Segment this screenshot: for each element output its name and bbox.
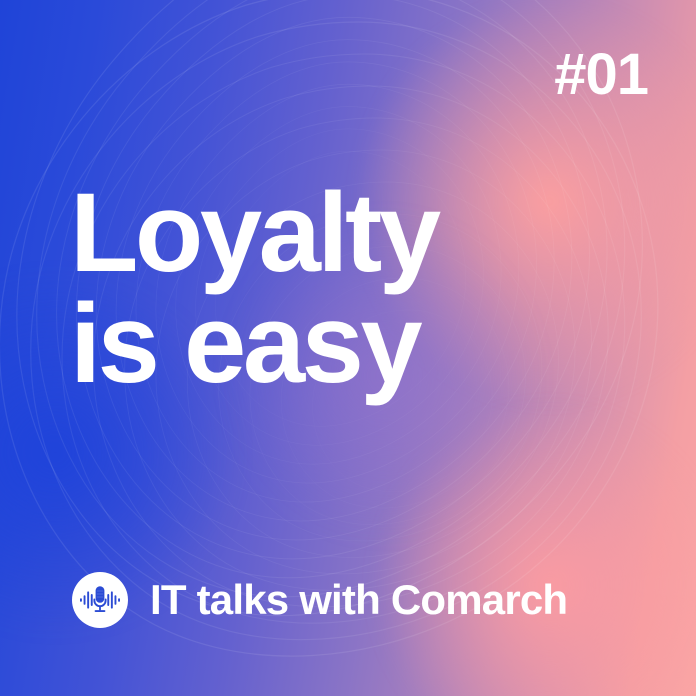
brand-name: IT talks with Comarch (150, 579, 567, 621)
title-line-1: Loyalty (70, 178, 438, 289)
microphone-icon (72, 572, 128, 628)
episode-number: #01 (554, 46, 648, 104)
podcast-cover: #01 Loyalty is easy (0, 0, 696, 696)
title-line-2: is easy (70, 289, 438, 400)
page-title: Loyalty is easy (70, 178, 438, 400)
brand-row: IT talks with Comarch (72, 572, 567, 628)
